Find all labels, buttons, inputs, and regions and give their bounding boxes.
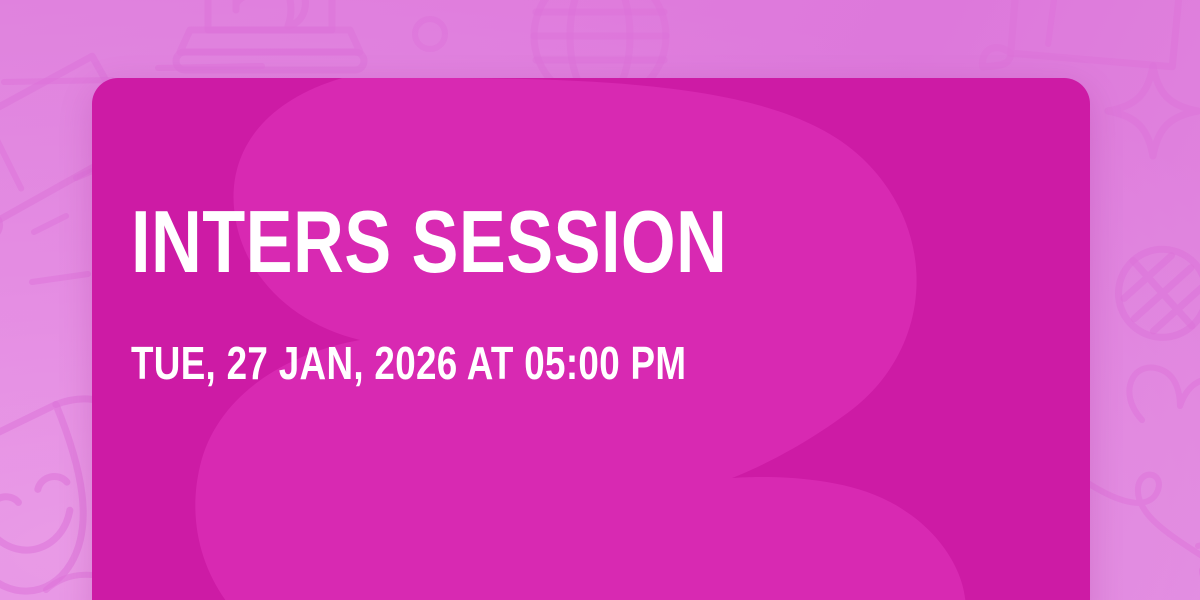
sparkle-icon <box>404 8 456 60</box>
sparkle-icon <box>1098 56 1200 166</box>
event-card-content: INTERS SESSION TUE, 27 JAN, 2026 AT 05:0… <box>131 78 1050 600</box>
event-banner-stage: INTERS SESSION TUE, 27 JAN, 2026 AT 05:0… <box>0 0 1200 600</box>
sparkle-icon <box>152 56 272 76</box>
event-title: INTERS SESSION <box>131 198 727 286</box>
event-datetime: TUE, 27 JAN, 2026 AT 05:00 PM <box>131 340 686 386</box>
sparkle-icon <box>28 210 74 240</box>
event-card[interactable]: INTERS SESSION TUE, 27 JAN, 2026 AT 05:0… <box>92 78 1090 600</box>
sparkle-icon <box>26 262 96 292</box>
swirl-line-icon <box>1122 352 1200 462</box>
